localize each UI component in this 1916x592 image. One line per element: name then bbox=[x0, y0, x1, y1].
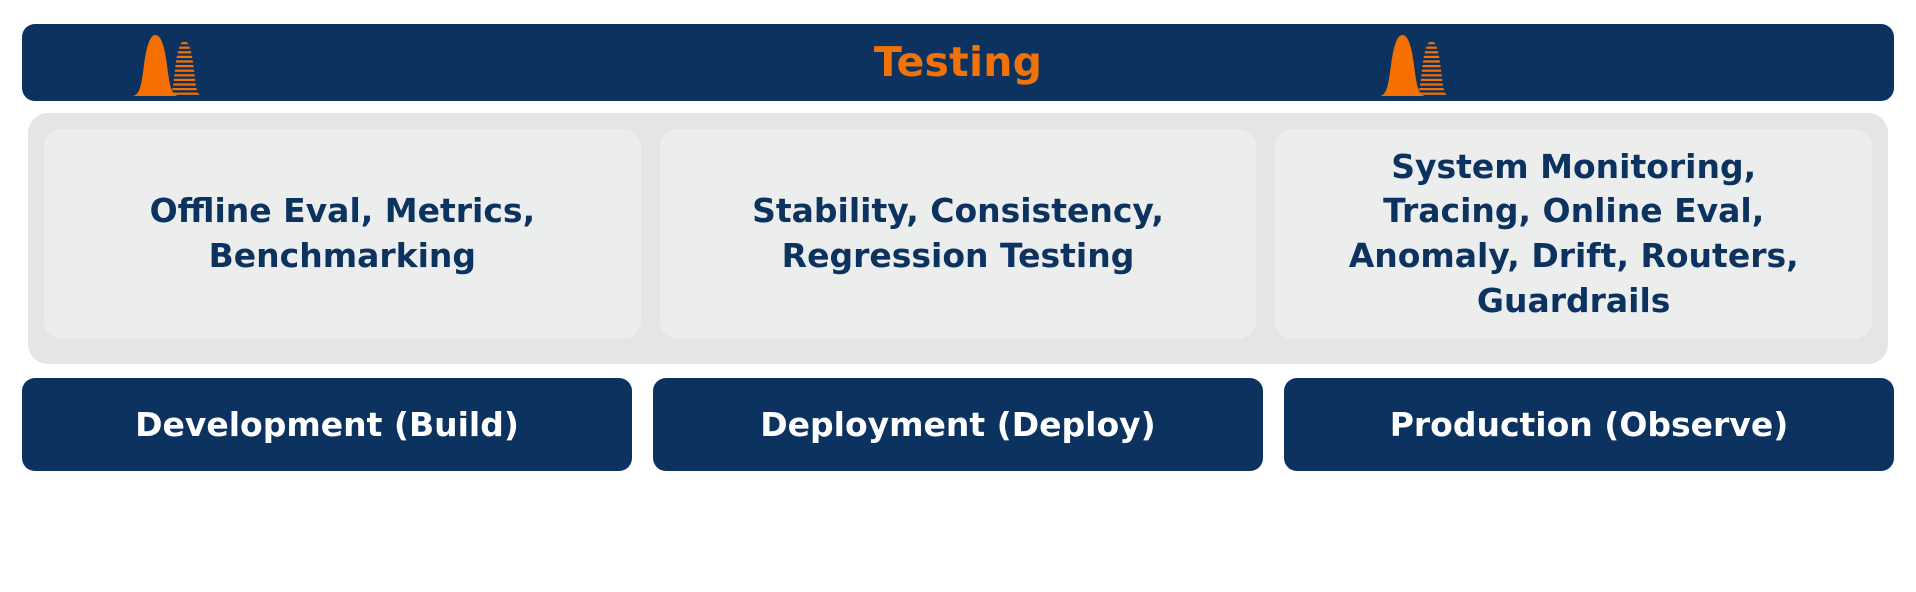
stage-bar-development: Development (Build) bbox=[22, 378, 632, 471]
concern-card-text: Stability, Consistency, Regression Testi… bbox=[752, 189, 1164, 278]
diagram-root: Testing bbox=[0, 0, 1916, 592]
distribution-curves-logo bbox=[1373, 30, 1465, 96]
stage-bar-label: Deployment (Deploy) bbox=[760, 408, 1155, 441]
concern-card-deployment: Stability, Consistency, Regression Testi… bbox=[660, 129, 1257, 339]
distribution-curves-logo bbox=[126, 30, 218, 96]
concern-card-text: Offline Eval, Metrics, Benchmarking bbox=[150, 189, 536, 278]
lifecycle-stage-group: Development (Build) Deployment (Deploy) … bbox=[22, 378, 1894, 471]
testing-concerns-panel: Offline Eval, Metrics, Benchmarking Stab… bbox=[28, 113, 1888, 364]
stage-bar-deployment: Deployment (Deploy) bbox=[653, 378, 1263, 471]
concern-card-production: System Monitoring, Tracing, Online Eval,… bbox=[1275, 129, 1872, 339]
concern-card-group: Offline Eval, Metrics, Benchmarking Stab… bbox=[44, 129, 1872, 339]
concern-card-text: System Monitoring, Tracing, Online Eval,… bbox=[1349, 145, 1799, 323]
stage-bar-production: Production (Observe) bbox=[1284, 378, 1894, 471]
testing-header-banner: Testing bbox=[22, 24, 1894, 101]
page-title: Testing bbox=[874, 42, 1042, 83]
stage-bar-label: Development (Build) bbox=[135, 408, 519, 441]
concern-card-development: Offline Eval, Metrics, Benchmarking bbox=[44, 129, 641, 339]
stage-bar-label: Production (Observe) bbox=[1390, 408, 1789, 441]
